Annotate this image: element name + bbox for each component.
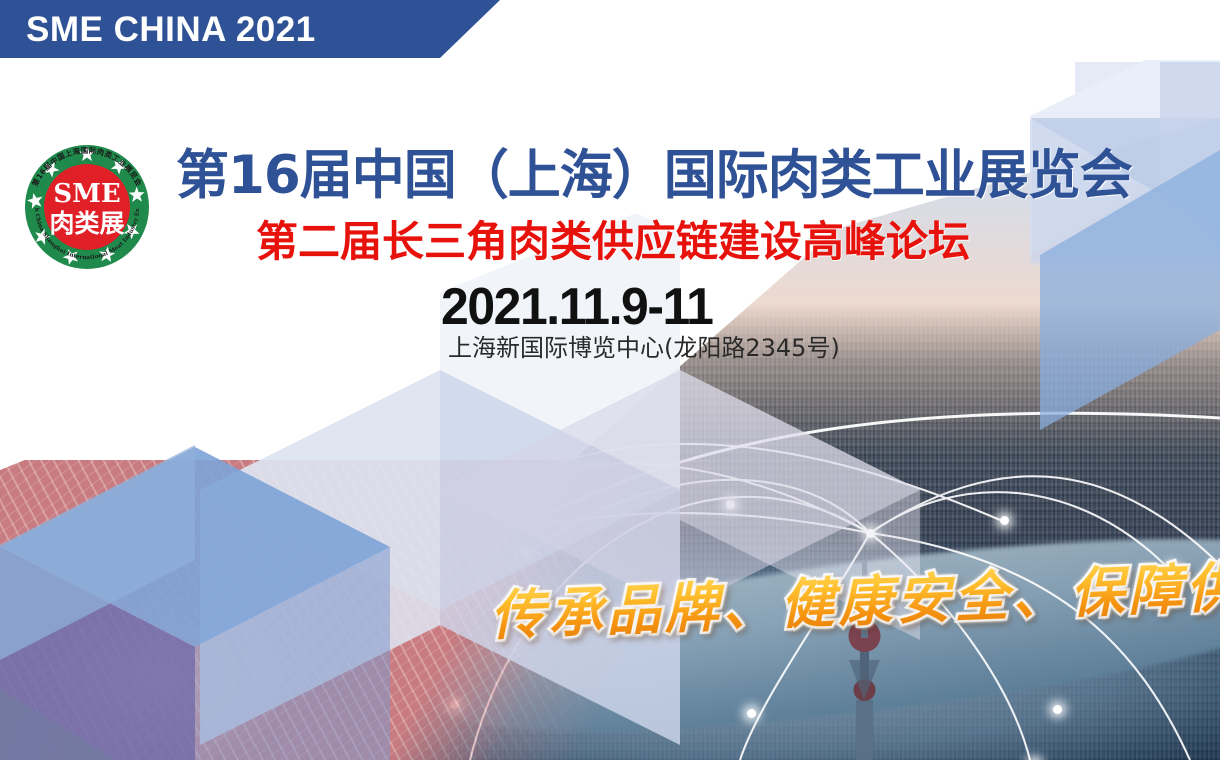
event-poster: SME CHINA 2021 <box>0 0 1220 760</box>
sme-meat-expo-logo: 第16届中国上海国际肉类工业展览会 The 16th China Shangha… <box>13 133 161 281</box>
event-date: 2021.11.9-11 <box>441 281 712 333</box>
logo-sme-text: SME <box>53 179 120 209</box>
page-title: 第16届中国（上海）国际肉类工业展览会 <box>176 148 1132 204</box>
sme-china-banner: SME CHINA 2021 <box>0 0 500 58</box>
logo-meat-expo-text: 肉类展 <box>49 209 124 238</box>
event-venue: 上海新国际博览中心(龙阳路2345号) <box>448 336 840 360</box>
forum-subtitle: 第二届长三角肉类供应链建设高峰论坛 <box>256 219 970 265</box>
banner-title: SME CHINA 2021 <box>0 12 316 47</box>
